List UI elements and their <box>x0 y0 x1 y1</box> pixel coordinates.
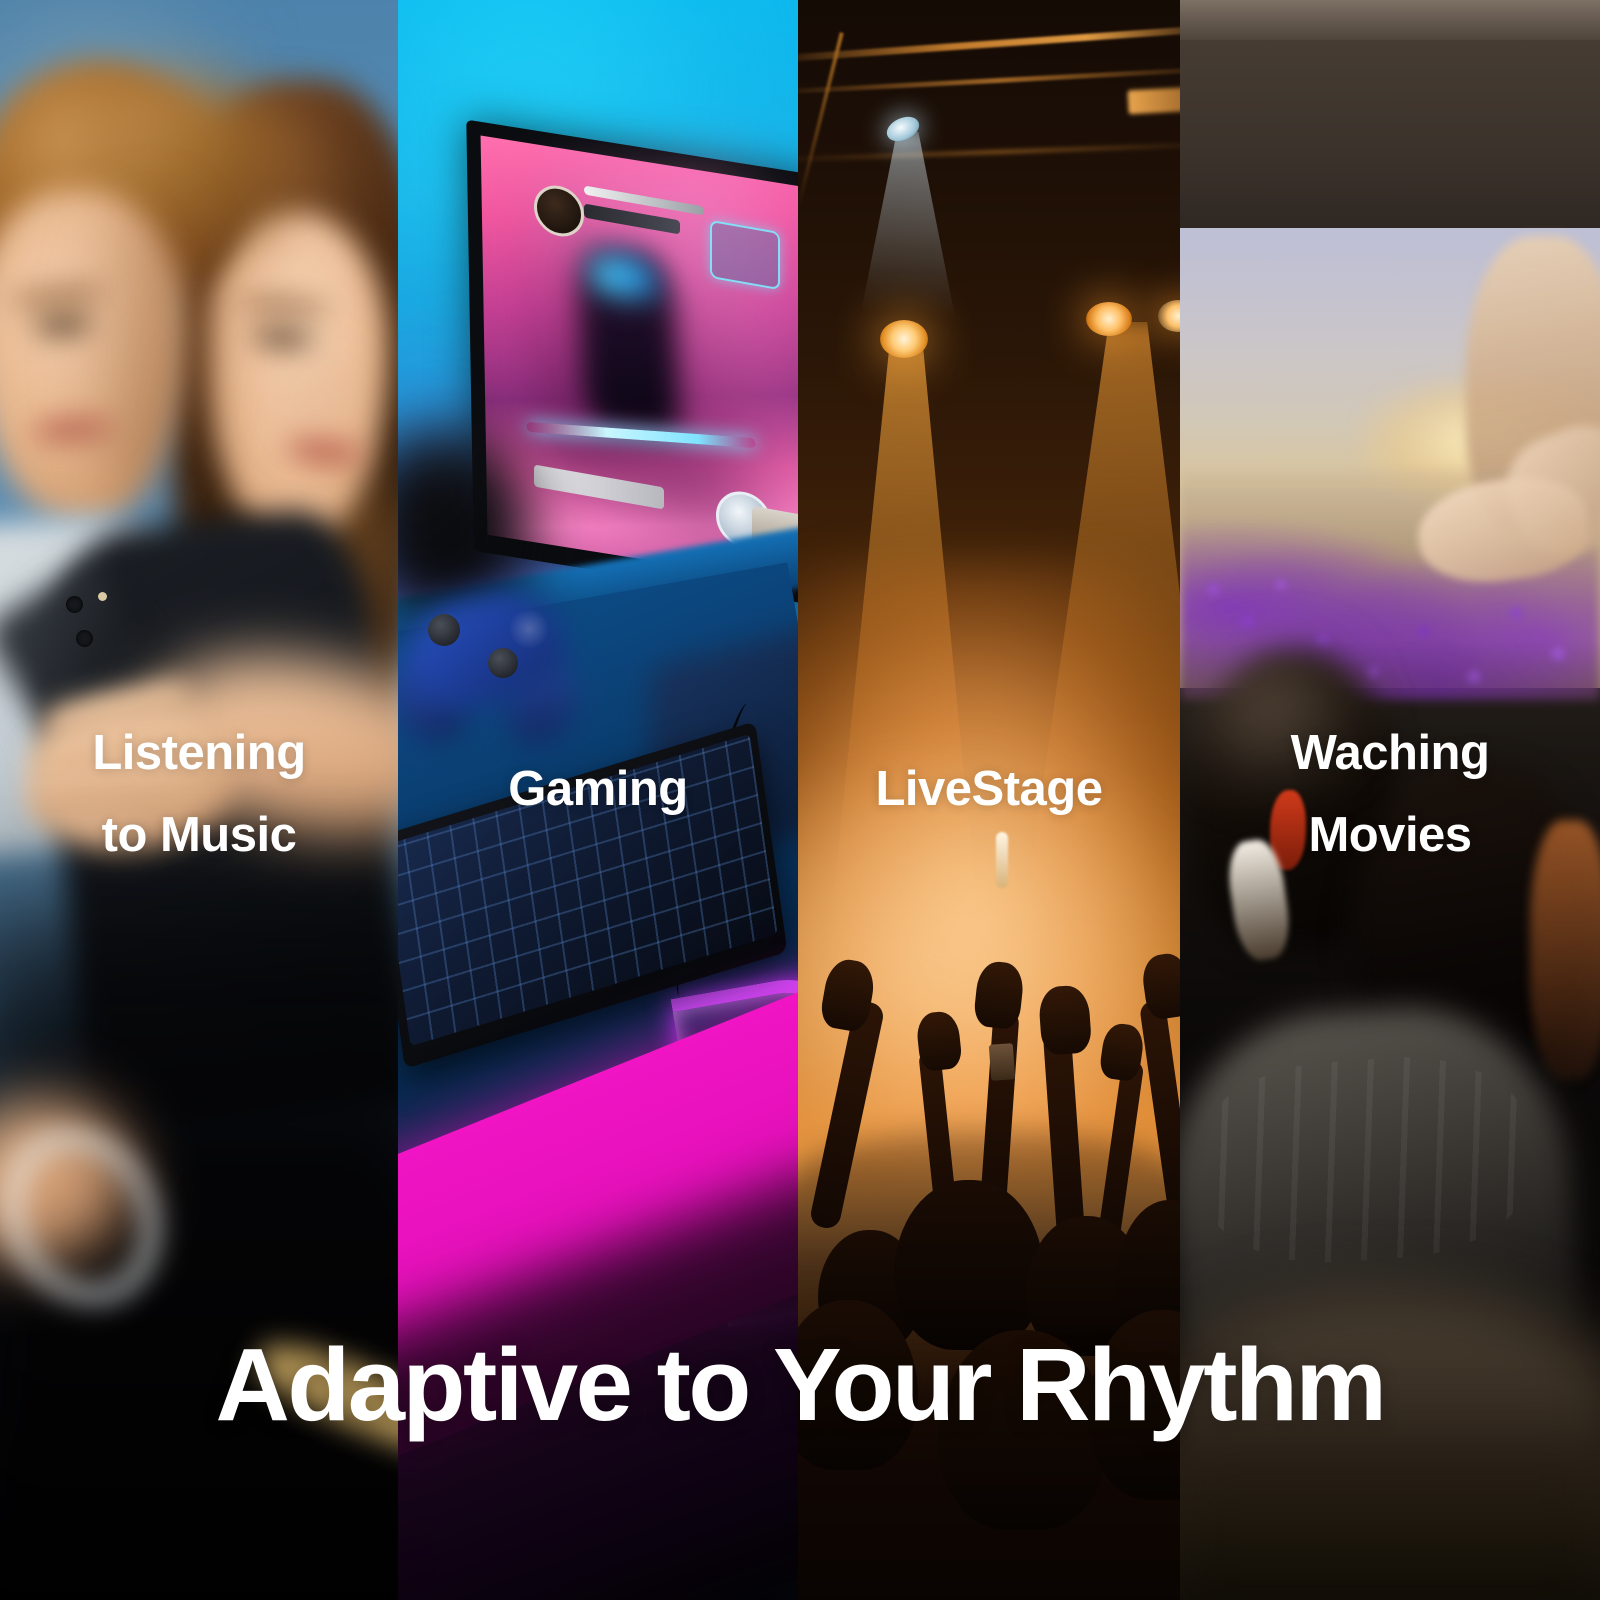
poster-headline: Adaptive to Your Rhythm <box>0 1325 1600 1445</box>
panel-label-waching-movies: Waching Movies <box>1180 712 1600 876</box>
poster-canvas: Listening to Music <box>0 0 1600 1600</box>
panel-label-listening-to-music: Listening to Music <box>0 712 398 876</box>
panel-label-livestage: LiveStage <box>798 748 1180 830</box>
panel-label-gaming: Gaming <box>398 748 798 830</box>
